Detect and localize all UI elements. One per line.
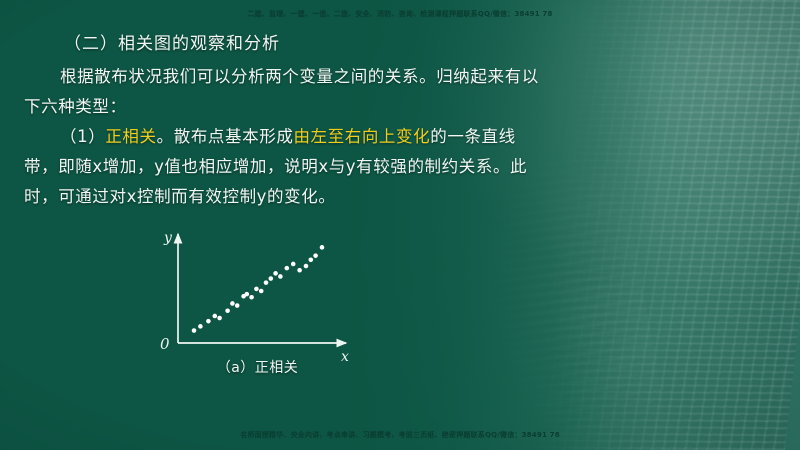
slide-root: 二建、监理、一建、一造、二造、安全、消防、咨询、检测课程押题联系QQ/微信：38…	[0, 0, 800, 450]
origin-label: 0	[160, 335, 170, 353]
scatter-point	[198, 324, 203, 329]
highlight-left-to-right-upward: 由左至右向上变化	[293, 127, 430, 146]
scatter-point	[254, 287, 259, 292]
paragraph-intro: 根据散布状况我们可以分析两个变量之间的关系。归纳起来有以下六种类型：	[24, 62, 544, 122]
paragraph-intro-text: 根据散布状况我们可以分析两个变量之间的关系。归纳起来有以下六种类型：	[24, 67, 539, 116]
scatter-point	[206, 319, 211, 324]
scatter-point	[285, 266, 290, 271]
scatter-plot-svg: y x 0	[150, 225, 365, 365]
page-title: （二）相关图的观察和分析	[64, 29, 280, 54]
scatter-point	[259, 289, 264, 294]
scatter-point	[192, 328, 197, 333]
y-axis-label: y	[163, 230, 173, 246]
scatter-point	[278, 274, 283, 279]
list-marker-1: （1）	[60, 127, 105, 146]
scatter-point	[269, 276, 274, 281]
scatter-point	[213, 314, 218, 319]
scatter-points-group	[192, 245, 325, 333]
slide-content: （二）相关图的观察和分析 根据散布状况我们可以分析两个变量之间的关系。归纳起来有…	[0, 0, 560, 450]
scatter-point	[273, 271, 278, 276]
scatter-figure: y x 0 （a）正相关	[150, 225, 365, 390]
scatter-point	[235, 303, 240, 308]
scatter-point	[304, 264, 309, 269]
scatter-point	[245, 292, 250, 297]
scatter-point	[264, 280, 269, 285]
figure-caption: （a）正相关	[150, 357, 365, 377]
scatter-point	[291, 262, 296, 267]
scatter-point	[230, 301, 235, 306]
scatter-point	[249, 295, 254, 300]
scatter-point	[309, 258, 314, 263]
scatter-point	[217, 316, 222, 321]
paragraph-segment-2: 。散布点基本形成	[157, 127, 294, 146]
scatter-point	[313, 253, 318, 258]
scatter-point	[297, 268, 302, 273]
scatter-point	[225, 308, 230, 313]
paragraph-positive-correlation: （1）正相关。散布点基本形成由左至右向上变化的一条直线带，即随x增加，y值也相应…	[24, 122, 544, 212]
highlight-positive-correlation: 正相关	[105, 127, 156, 146]
scatter-point	[320, 245, 325, 250]
